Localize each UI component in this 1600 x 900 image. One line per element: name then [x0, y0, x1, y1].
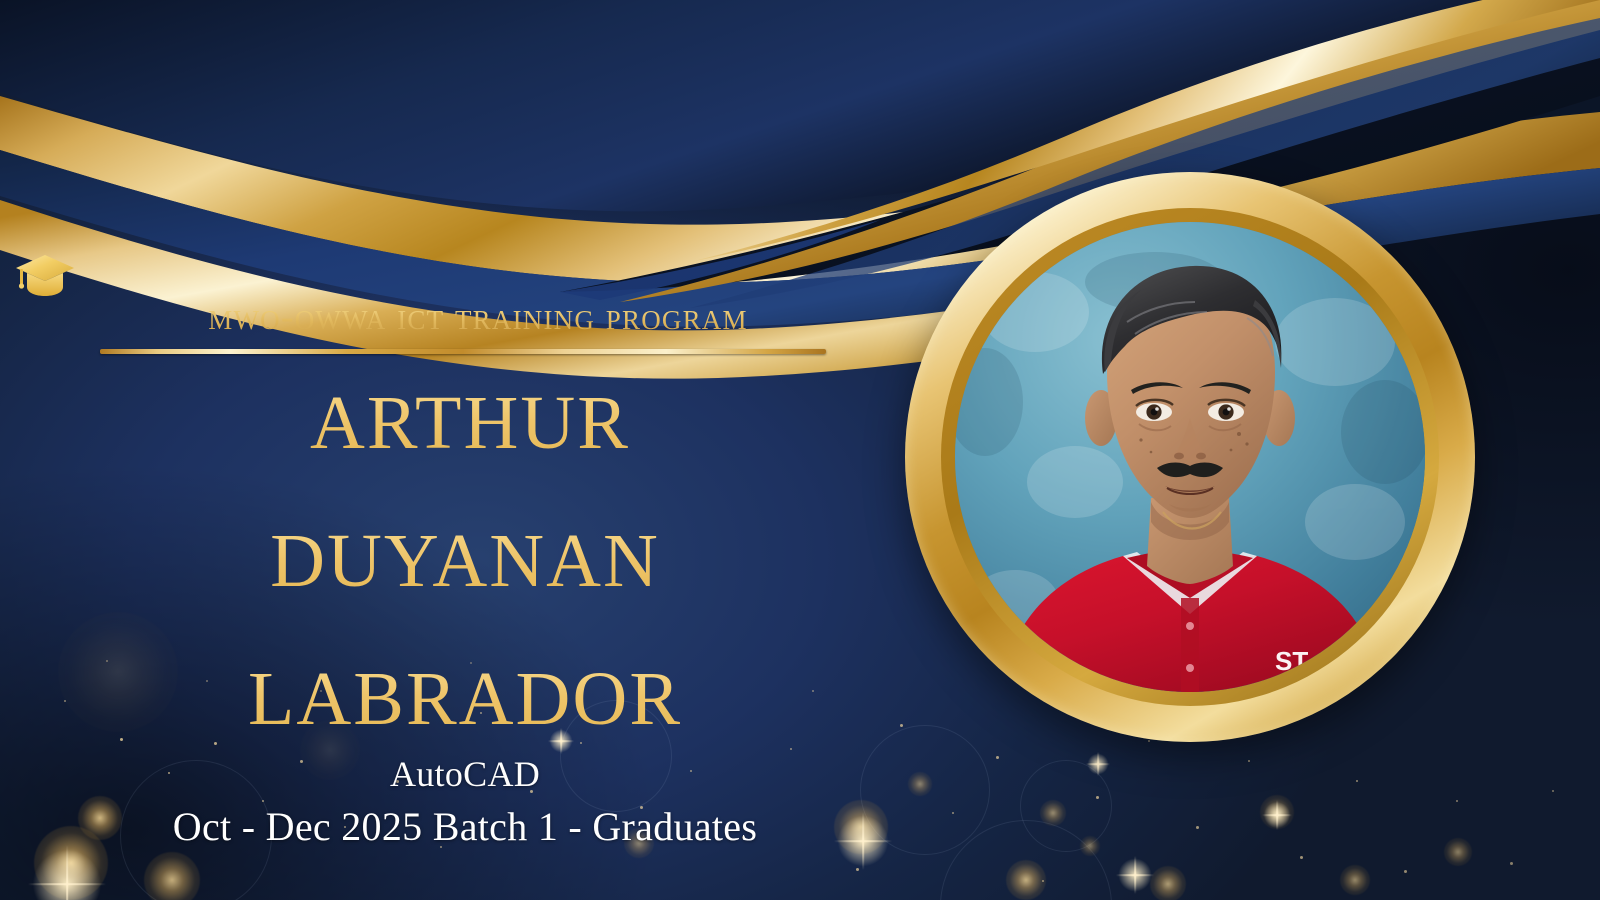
graduate-middle-name: Duyanan: [0, 498, 930, 604]
batch-label: Oct - Dec 2025 Batch 1 - Graduates: [0, 803, 930, 850]
graduate-portrait-frame: ST: [905, 172, 1475, 742]
graduation-announcement-poster: MWO-OWWA ICT TRAINING PROGRAM Arthur Duy…: [0, 0, 1600, 900]
avatar: ST: [955, 222, 1425, 692]
portrait-illustration: ST: [955, 222, 1425, 692]
svg-text:ST: ST: [1275, 646, 1308, 676]
text-content-column: MWO-OWWA ICT TRAINING PROGRAM Arthur Duy…: [0, 248, 930, 850]
graduation-cap-icon: [14, 252, 76, 298]
course-label: AutoCAD: [0, 753, 930, 795]
graduate-last-name: Labrador: [0, 636, 930, 742]
graduate-first-name: Arthur: [0, 360, 930, 466]
page-title: MWO-OWWA ICT TRAINING PROGRAM: [0, 298, 930, 336]
